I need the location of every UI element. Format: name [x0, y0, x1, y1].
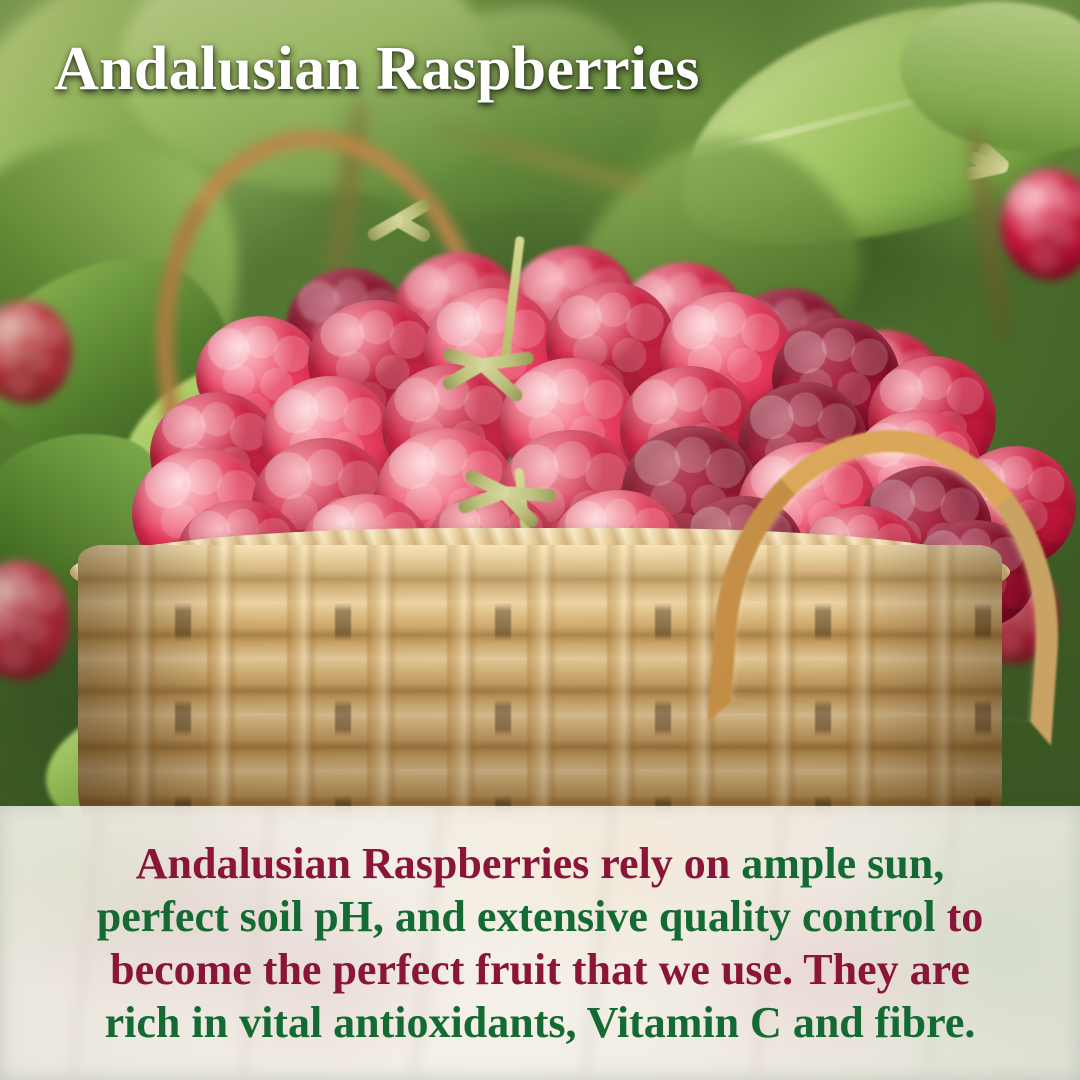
caption-segment: become the perfect fruit that we use. Th…: [110, 945, 970, 994]
caption-segment: ample sun,: [741, 839, 944, 888]
product-info-card: Andalusian Raspberries Andalusian Raspbe…: [0, 0, 1080, 1080]
caption-line: perfect soil pH, and extensive quality c…: [97, 890, 983, 943]
caption-panel: Andalusian Raspberries rely on ample sun…: [0, 806, 1080, 1080]
caption-segment: Andalusian Raspberries rely on: [136, 839, 742, 888]
caption-text: Andalusian Raspberries rely on ample sun…: [0, 806, 1080, 1080]
caption-line: become the perfect fruit that we use. Th…: [110, 943, 970, 996]
caption-segment: to: [947, 892, 984, 941]
caption-line: Andalusian Raspberries rely on ample sun…: [136, 837, 944, 890]
page-title: Andalusian Raspberries: [54, 34, 700, 105]
caption-segment: perfect soil pH, and extensive quality c…: [97, 892, 947, 941]
caption-line: rich in vital antioxidants, Vitamin C an…: [105, 996, 976, 1049]
caption-segment: rich in vital antioxidants, Vitamin C an…: [105, 998, 976, 1047]
